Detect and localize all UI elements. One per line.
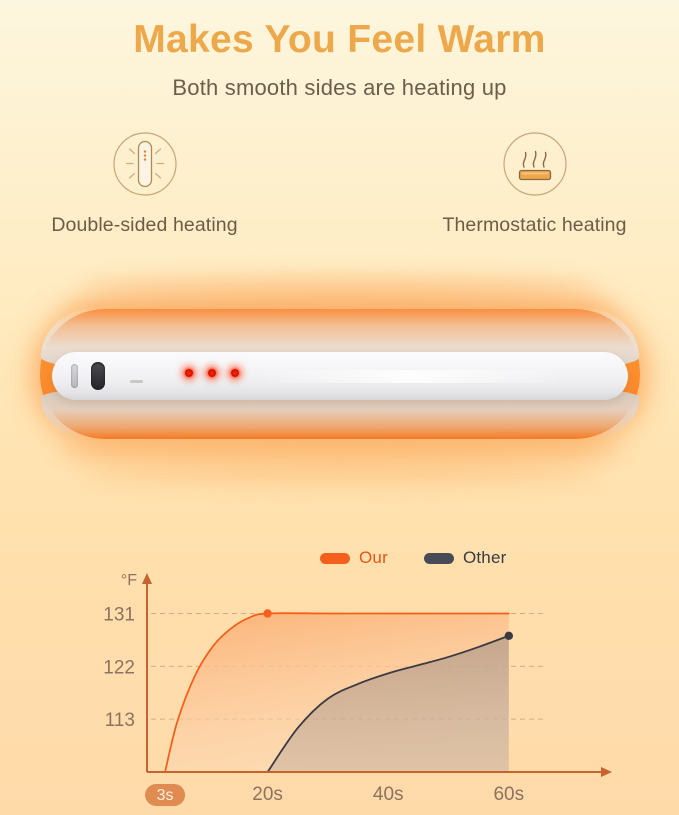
heat-haze — [80, 463, 600, 487]
temperature-chart: Our Other °F1131221313s20s40s60s — [0, 540, 679, 815]
page-title: Makes You Feel Warm — [0, 18, 679, 63]
y-axis-unit-label: °F — [121, 572, 137, 589]
feature-label: Double-sided heating — [51, 214, 237, 237]
feature-label: Thermostatic heating — [442, 214, 626, 237]
led-indicator — [208, 369, 216, 377]
product-image — [0, 259, 679, 489]
series-marker-our — [263, 609, 271, 617]
y-axis-tick-label: 122 — [103, 657, 135, 678]
heat-haze — [80, 273, 600, 299]
y-axis-arrow — [142, 573, 152, 584]
device-side-band — [52, 352, 628, 400]
led-indicator — [231, 369, 239, 377]
chart-canvas: °F1131221313s20s40s60s — [0, 540, 679, 815]
feature-list: Double-sided heating Thermostatic heatin… — [0, 128, 679, 237]
heat-haze — [52, 440, 627, 466]
y-axis-tick-label: 113 — [105, 710, 135, 731]
double-sided-heating-icon — [109, 128, 181, 200]
series-marker-other — [505, 632, 513, 640]
legend-item-other: Other — [424, 548, 507, 568]
x-axis-arrow — [601, 767, 612, 777]
indicator-slot — [71, 364, 78, 388]
thermostatic-heating-icon — [499, 128, 571, 200]
x-axis-tick-label: 60s — [493, 784, 524, 805]
device-highlight — [262, 370, 562, 383]
device-marking — [130, 380, 143, 383]
hand-warmer-device — [40, 309, 640, 439]
x-axis-tick-label: 3s — [157, 787, 174, 804]
led-indicator-group — [185, 369, 239, 377]
x-axis-tick-label: 40s — [373, 784, 404, 805]
usb-c-port — [91, 362, 105, 390]
legend-swatch-other — [424, 553, 454, 564]
feature-thermostatic-heating: Thermostatic heating — [410, 128, 660, 237]
feature-double-sided-heating: Double-sided heating — [20, 128, 270, 237]
led-indicator — [185, 369, 193, 377]
x-axis-tick-label: 20s — [252, 784, 283, 805]
y-axis-tick-label: 131 — [103, 604, 135, 625]
page-header: Makes You Feel Warm Both smooth sides ar… — [0, 0, 679, 101]
chart-legend: Our Other — [320, 548, 506, 568]
legend-swatch-our — [320, 553, 350, 564]
legend-label: Our — [359, 548, 388, 568]
page-subtitle: Both smooth sides are heating up — [0, 75, 679, 101]
legend-label: Other — [463, 548, 507, 568]
legend-item-our: Our — [320, 548, 388, 568]
